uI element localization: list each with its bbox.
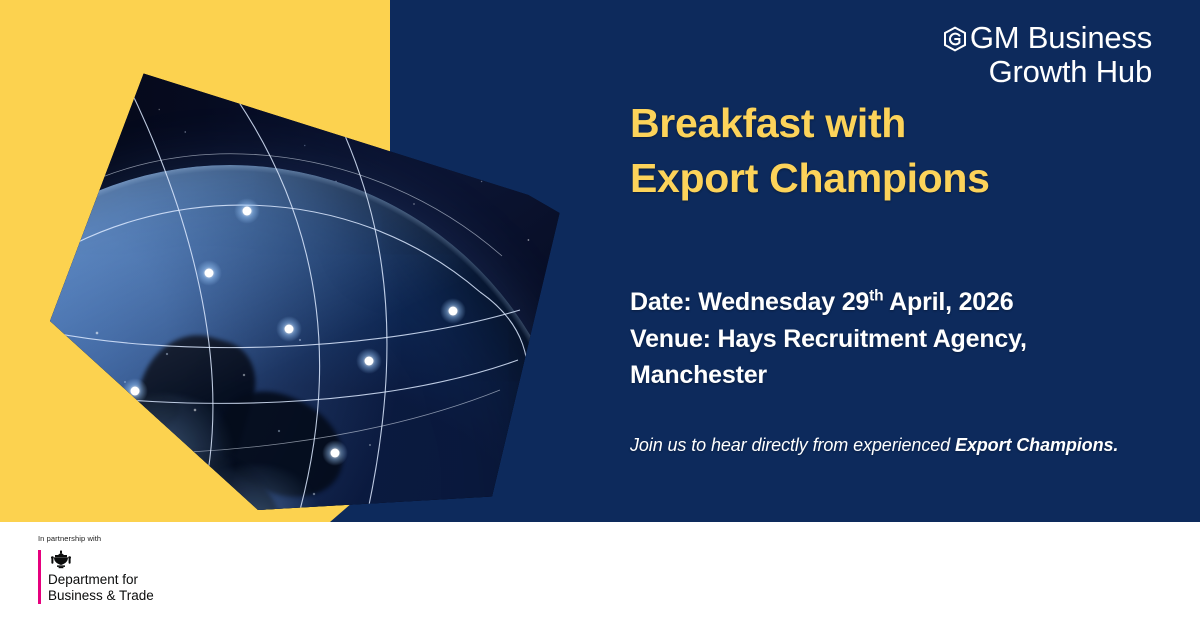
dbt-logo: In partnership with [38,534,154,604]
tagline-normal: Join us to hear directly from experience… [630,435,955,455]
dbt-pink-bar [38,550,41,604]
event-tagline: Join us to hear directly from experience… [630,432,1150,459]
date-label: Date: [630,288,692,316]
network-node-flare [246,210,248,212]
date-rest: April, 2026 [883,288,1013,316]
network-node-flare [208,272,210,274]
event-copy-block: Breakfast with Export Champions Date: We… [630,96,1150,459]
title-line-1: Breakfast with [630,96,1150,151]
dbt-name: Department for Business & Trade [48,572,154,604]
dbt-name-line-1: Department for [48,572,154,588]
royal-crest-icon [48,550,74,570]
hexagon-g-icon [942,26,968,52]
page-title: Breakfast with Export Champions [630,96,1150,205]
tagline-bold: Export Champions. [955,435,1118,455]
brand-line-2: Growth Hub [942,56,1152,89]
gm-business-growth-hub-logo: GM Business Growth Hub [942,22,1152,89]
partnership-note: In partnership with [38,534,154,543]
event-details: Date: Wednesday 29th April, 2026 Venue: … [630,284,1150,394]
event-venue-line-1: Venue: Hays Recruitment Agency, [630,321,1150,358]
network-node-flare [288,328,290,330]
date-ordinal: th [869,288,883,305]
partner-logo-footer: In partnership with [0,522,1200,630]
network-node-flare [134,390,136,392]
network-node-flare [368,360,370,362]
brand-line-1: GM Business [970,22,1152,55]
event-poster: GM Business Growth Hub Breakfast with Ex… [0,0,1200,630]
network-node-flare [334,452,336,454]
dbt-name-line-2: Business & Trade [48,588,154,604]
network-node-flare [452,310,454,312]
event-date-line: Date: Wednesday 29th April, 2026 [630,284,1150,321]
date-value: Wednesday 29 [698,288,869,316]
title-line-2: Export Champions [630,151,1150,206]
event-venue-line-2: Manchester [630,357,1150,394]
